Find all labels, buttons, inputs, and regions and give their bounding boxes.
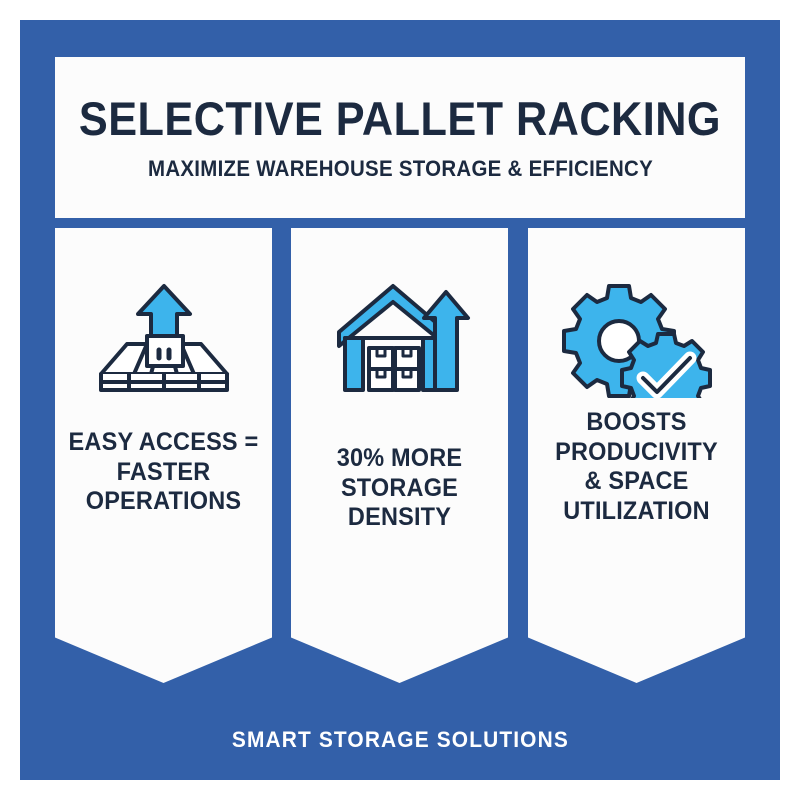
panel-easy-access: EASY ACCESS = FASTER OPERATIONS xyxy=(55,228,272,683)
panel-row: EASY ACCESS = FASTER OPERATIONS xyxy=(55,228,745,683)
title-card: SELECTIVE PALLET RACKING MAXIMIZE WAREHO… xyxy=(55,57,745,218)
caption-line: & SPACE xyxy=(535,467,739,497)
caption-line: UTILIZATION xyxy=(535,497,739,527)
panel-caption: EASY ACCESS = FASTER OPERATIONS xyxy=(62,428,266,517)
caption-line: BOOSTS xyxy=(535,408,739,438)
panel-caption: BOOSTS PRODUCIVITY & SPACE UTILIZATION xyxy=(535,408,739,526)
pallet-with-up-arrow-icon xyxy=(89,278,239,398)
gears-with-checkmark-icon xyxy=(562,278,712,398)
footer: SMART STORAGE SOLUTIONS xyxy=(20,700,780,780)
infographic-canvas: SELECTIVE PALLET RACKING MAXIMIZE WAREHO… xyxy=(0,0,800,800)
caption-line: PRODUCIVITY xyxy=(535,438,739,468)
warehouse-with-up-arrow-icon xyxy=(325,278,475,398)
panel-storage-density: 30% MORE STORAGE DENSITY xyxy=(291,228,508,683)
caption-line: OPERATIONS xyxy=(62,487,266,517)
caption-line: 30% MORE xyxy=(298,444,502,474)
caption-line: EASY ACCESS = xyxy=(62,428,266,458)
panel-productivity: BOOSTS PRODUCIVITY & SPACE UTILIZATION xyxy=(528,228,745,683)
footer-tagline: SMART STORAGE SOLUTIONS xyxy=(231,727,568,753)
page-title: SELECTIVE PALLET RACKING xyxy=(79,95,721,142)
page-subtitle: MAXIMIZE WAREHOUSE STORAGE & EFFICIENCY xyxy=(148,158,653,180)
caption-line: STORAGE DENSITY xyxy=(298,474,502,533)
caption-line: FASTER xyxy=(62,458,266,488)
panel-caption: 30% MORE STORAGE DENSITY xyxy=(298,444,502,533)
